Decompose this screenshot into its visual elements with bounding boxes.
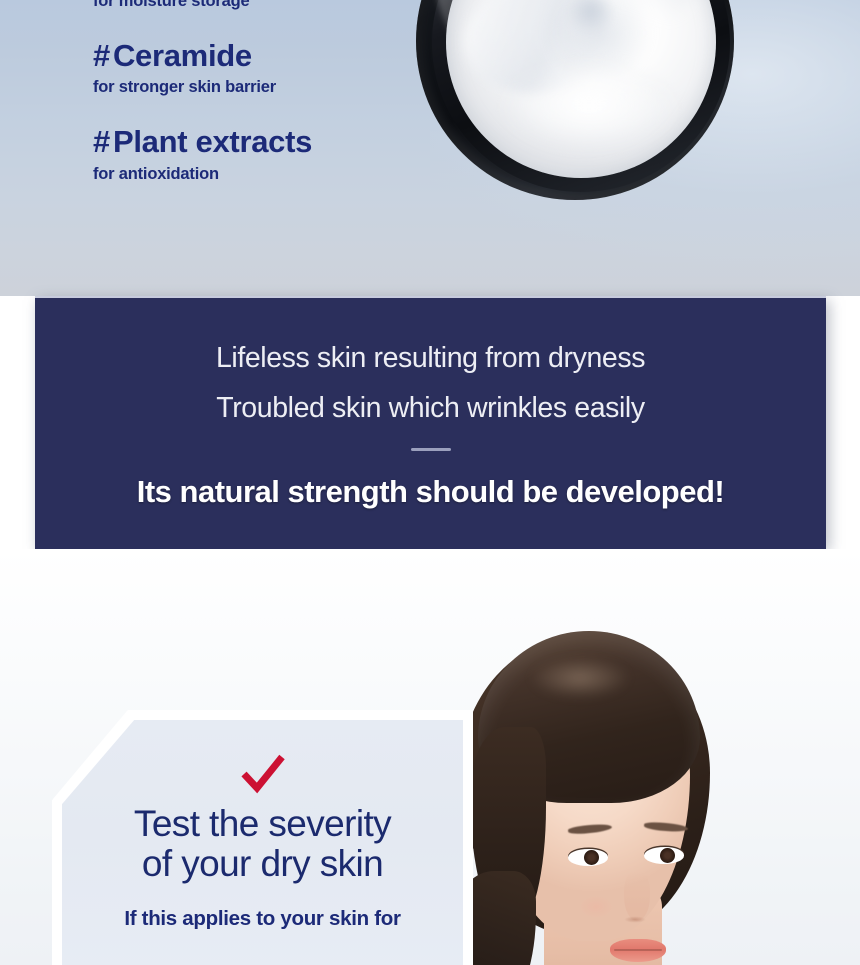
banner-line-2: Troubled skin which wrinkles easily [35,394,826,423]
hash-symbol: # [93,124,110,159]
card-content: Test the severity of your dry skin If th… [52,710,473,965]
dry-skin-test-card: Test the severity of your dry skin If th… [52,710,473,965]
model-nostril [620,915,650,924]
check-icon [52,754,473,794]
ingredient-name: #Plant extracts [93,124,433,161]
message-banner: Lifeless skin resulting from dryness Tro… [35,296,826,549]
product-detail-page: for moisture storage #Ceramide for stron… [0,0,860,965]
card-subtitle: If this applies to your skin for [52,907,473,931]
card-title: Test the severity of your dry skin [52,804,473,883]
ingredient-item-plant-extracts: #Plant extracts for antioxidation [93,124,433,184]
model-eyebrow-right [644,821,688,832]
ingredient-benefit: for antioxidation [93,165,433,185]
card-title-line-2: of your dry skin [52,844,473,884]
cream-jar-image [410,0,740,212]
banner-divider [411,448,451,451]
model-cheek [572,891,620,923]
model-portrait-image [452,635,782,965]
ingredients-hero-section: for moisture storage #Ceramide for stron… [0,0,860,296]
ingredient-name-text: Ceramide [113,38,252,73]
model-hair-sheen [510,649,650,707]
model-eye-left [568,849,608,866]
model-eyebrow-left [568,823,613,836]
model-pupil [584,850,599,865]
card-title-line-1: Test the severity [52,804,473,844]
ingredient-list: for moisture storage #Ceramide for stron… [93,0,433,188]
model-nose [624,871,650,921]
ingredient-name-text: Plant extracts [113,124,312,159]
ingredient-name: #Ceramide [93,38,433,75]
hash-symbol: # [93,38,110,73]
banner-headline: Its natural strength should be developed… [35,474,826,510]
model-pupil [660,848,675,863]
cream-swirl [494,56,684,156]
model-lip-line [614,949,662,951]
ingredient-benefit: for moisture storage [93,0,433,12]
ingredient-item-ceramide: #Ceramide for stronger skin barrier [93,38,433,98]
banner-line-1: Lifeless skin resulting from dryness [35,344,826,373]
ingredient-benefit: for stronger skin barrier [93,78,433,98]
dry-skin-test-section: Test the severity of your dry skin If th… [0,549,860,965]
model-eye-right [644,847,684,864]
ingredient-item-partial: for moisture storage [93,0,433,12]
